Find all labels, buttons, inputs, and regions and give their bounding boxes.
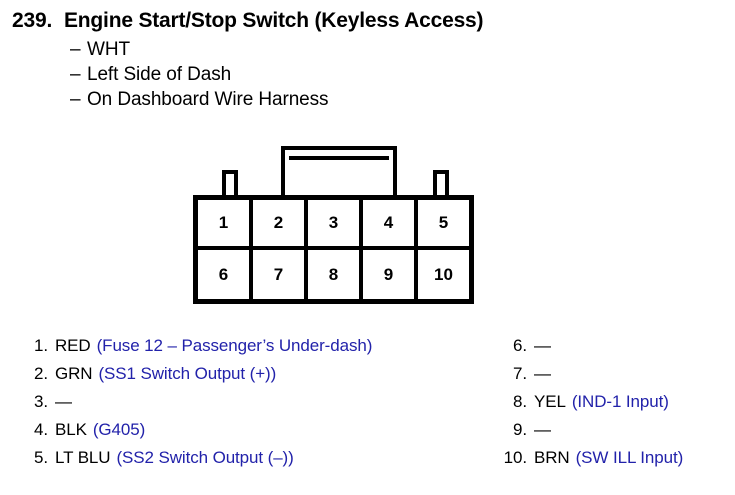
connector-pin: 6 (198, 250, 253, 300)
pin-legend-column-right: 6. — 7. — 8. YEL (IND-1 Input) 9. — 10. … (497, 332, 732, 472)
connector-pin: 4 (363, 200, 418, 246)
pin-description: (SS2 Switch Output (–)) (110, 444, 293, 472)
pin-legend-item: 9. — (497, 416, 732, 444)
pin-empty-marker: — (534, 360, 551, 388)
pin-description: (Fuse 12 – Passenger’s Under-dash) (91, 332, 373, 360)
header-subline: – Left Side of Dash (70, 62, 722, 87)
pin-description: (IND-1 Input) (566, 388, 669, 416)
pin-number: 3. (18, 388, 55, 416)
wire-color-code: BRN (534, 444, 570, 472)
pin-number: 10. (497, 444, 534, 472)
pin-number: 9. (497, 416, 534, 444)
page-title: 239. Engine Start/Stop Switch (Keyless A… (12, 8, 722, 34)
pin-description: (SW ILL Input) (570, 444, 684, 472)
connector-pin: 9 (363, 250, 418, 300)
pin-legend-item: 10. BRN (SW ILL Input) (497, 444, 732, 472)
pin-number: 8. (497, 388, 534, 416)
pin-number: 4. (18, 416, 55, 444)
header-subline: – WHT (70, 37, 722, 62)
connector-pin: 10 (418, 250, 469, 300)
connector-shell: 1 2 3 4 5 6 7 8 9 10 (193, 195, 474, 304)
pin-number: 7. (497, 360, 534, 388)
connector-diagram: 1 2 3 4 5 6 7 8 9 10 (193, 146, 478, 308)
connector-pin: 2 (253, 200, 308, 246)
pin-number: 6. (497, 332, 534, 360)
header-subline: – On Dashboard Wire Harness (70, 87, 722, 112)
connector-pin: 5 (418, 200, 469, 246)
pin-legend-item: 3. — (18, 388, 478, 416)
header-subline-list: – WHT – Left Side of Dash – On Dashboard… (12, 37, 722, 112)
connector-pin: 3 (308, 200, 363, 246)
connector-latch-tab (281, 146, 397, 198)
wire-color-code: LT BLU (55, 444, 110, 472)
pin-legend: 1. RED (Fuse 12 – Passenger’s Under-dash… (0, 332, 735, 492)
header-subline-text: WHT (87, 37, 722, 62)
wire-color-code: RED (55, 332, 91, 360)
wire-color-code: GRN (55, 360, 92, 388)
pin-number: 5. (18, 444, 55, 472)
pin-empty-marker: — (55, 388, 72, 416)
entry-title: Engine Start/Stop Switch (Keyless Access… (64, 8, 722, 34)
pin-legend-item: 6. — (497, 332, 732, 360)
header-subline-text: Left Side of Dash (87, 62, 722, 87)
header-subline-text: On Dashboard Wire Harness (87, 87, 722, 112)
bullet-dash-icon: – (70, 62, 87, 87)
pin-legend-item: 8. YEL (IND-1 Input) (497, 388, 732, 416)
connector-notch-left (222, 170, 238, 198)
pin-empty-marker: — (534, 332, 551, 360)
connector-pin: 7 (253, 250, 308, 300)
entry-number: 239. (12, 8, 64, 34)
wire-color-code: BLK (55, 416, 87, 444)
pin-legend-item: 5. LT BLU (SS2 Switch Output (–)) (18, 444, 478, 472)
wire-color-code: YEL (534, 388, 566, 416)
pin-legend-item: 2. GRN (SS1 Switch Output (+)) (18, 360, 478, 388)
pin-legend-item: 7. — (497, 360, 732, 388)
pin-number: 1. (18, 332, 55, 360)
latch-bar-icon (289, 156, 389, 160)
pin-number: 2. (18, 360, 55, 388)
connector-notch-right (433, 170, 449, 198)
pin-empty-marker: — (534, 416, 551, 444)
bullet-dash-icon: – (70, 87, 87, 112)
pin-legend-item: 1. RED (Fuse 12 – Passenger’s Under-dash… (18, 332, 478, 360)
bullet-dash-icon: – (70, 37, 87, 62)
connector-pin: 1 (198, 200, 253, 246)
pin-description: (SS1 Switch Output (+)) (92, 360, 276, 388)
connector-pin-row-top: 1 2 3 4 5 (198, 200, 469, 250)
connector-pin-row-bottom: 6 7 8 9 10 (198, 250, 469, 300)
pin-legend-item: 4. BLK (G405) (18, 416, 478, 444)
connector-pin: 8 (308, 250, 363, 300)
pin-legend-column-left: 1. RED (Fuse 12 – Passenger’s Under-dash… (18, 332, 478, 472)
pin-description: (G405) (87, 416, 145, 444)
page-header: 239. Engine Start/Stop Switch (Keyless A… (12, 8, 722, 112)
